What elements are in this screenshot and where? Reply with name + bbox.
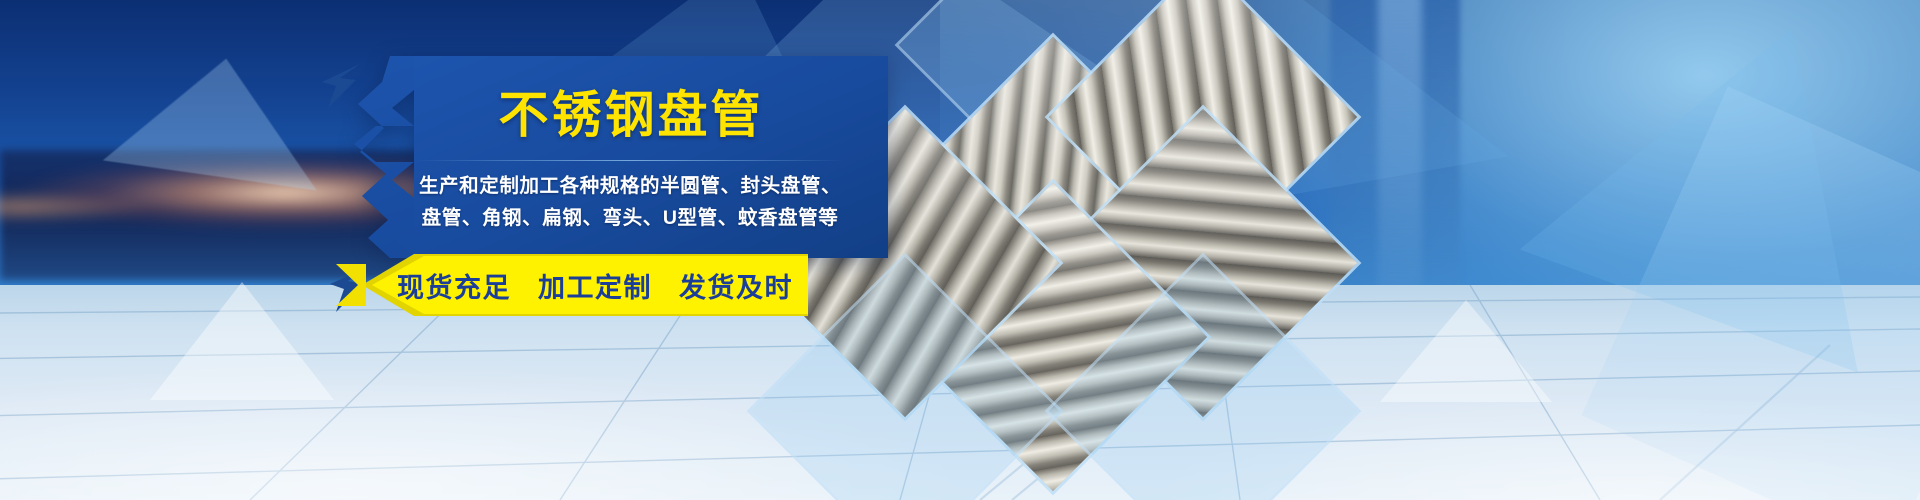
product-hero-banner: 不锈钢盘管 生产和定制加工各种规格的半圆管、封头盘管、 盘管、角钢、扁钢、弯头、…	[0, 0, 1920, 500]
headline-plaque-content: 不锈钢盘管 生产和定制加工各种规格的半圆管、封头盘管、 盘管、角钢、扁钢、弯头、…	[352, 56, 888, 258]
decor-triangle-lower-left	[150, 282, 334, 400]
product-photo-mosaic	[826, 0, 1296, 500]
subtitle-line-2: 盘管、角钢、扁钢、弯头、U型管、蚊香盘管等	[422, 203, 839, 235]
feature-ribbon-label: 现货充足 加工定制 发货及时	[397, 266, 793, 305]
subtitle-line-1: 生产和定制加工各种规格的半圆管、封头盘管、	[419, 171, 841, 203]
page-title: 不锈钢盘管	[499, 90, 764, 140]
feature-ribbon-content: 现货充足 加工定制 发货及时	[336, 254, 808, 316]
title-divider	[415, 160, 845, 161]
decor-triangle-lower-right	[1380, 300, 1552, 402]
